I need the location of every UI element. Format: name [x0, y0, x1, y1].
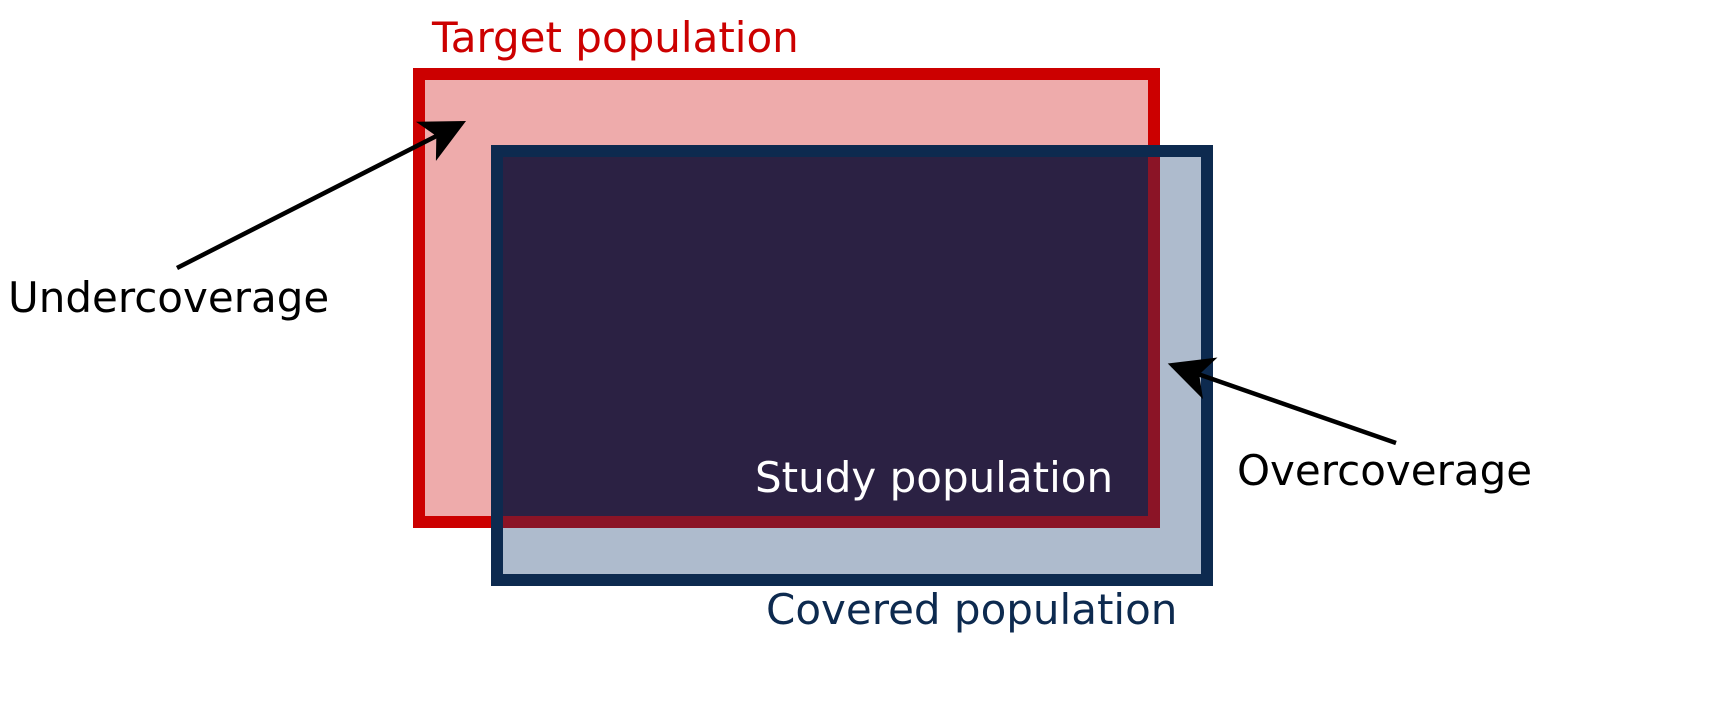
covered-population-label: Covered population [766, 589, 1177, 631]
target-border-right-overlap [1148, 157, 1160, 528]
diagram-canvas: Target population Covered population Stu… [0, 0, 1729, 723]
study-population-label: Study population [755, 457, 1113, 499]
target-population-label: Target population [432, 17, 799, 59]
undercoverage-label: Undercoverage [8, 277, 329, 319]
overcoverage-label: Overcoverage [1237, 450, 1532, 492]
target-border-bottom-overlap [503, 516, 1148, 528]
